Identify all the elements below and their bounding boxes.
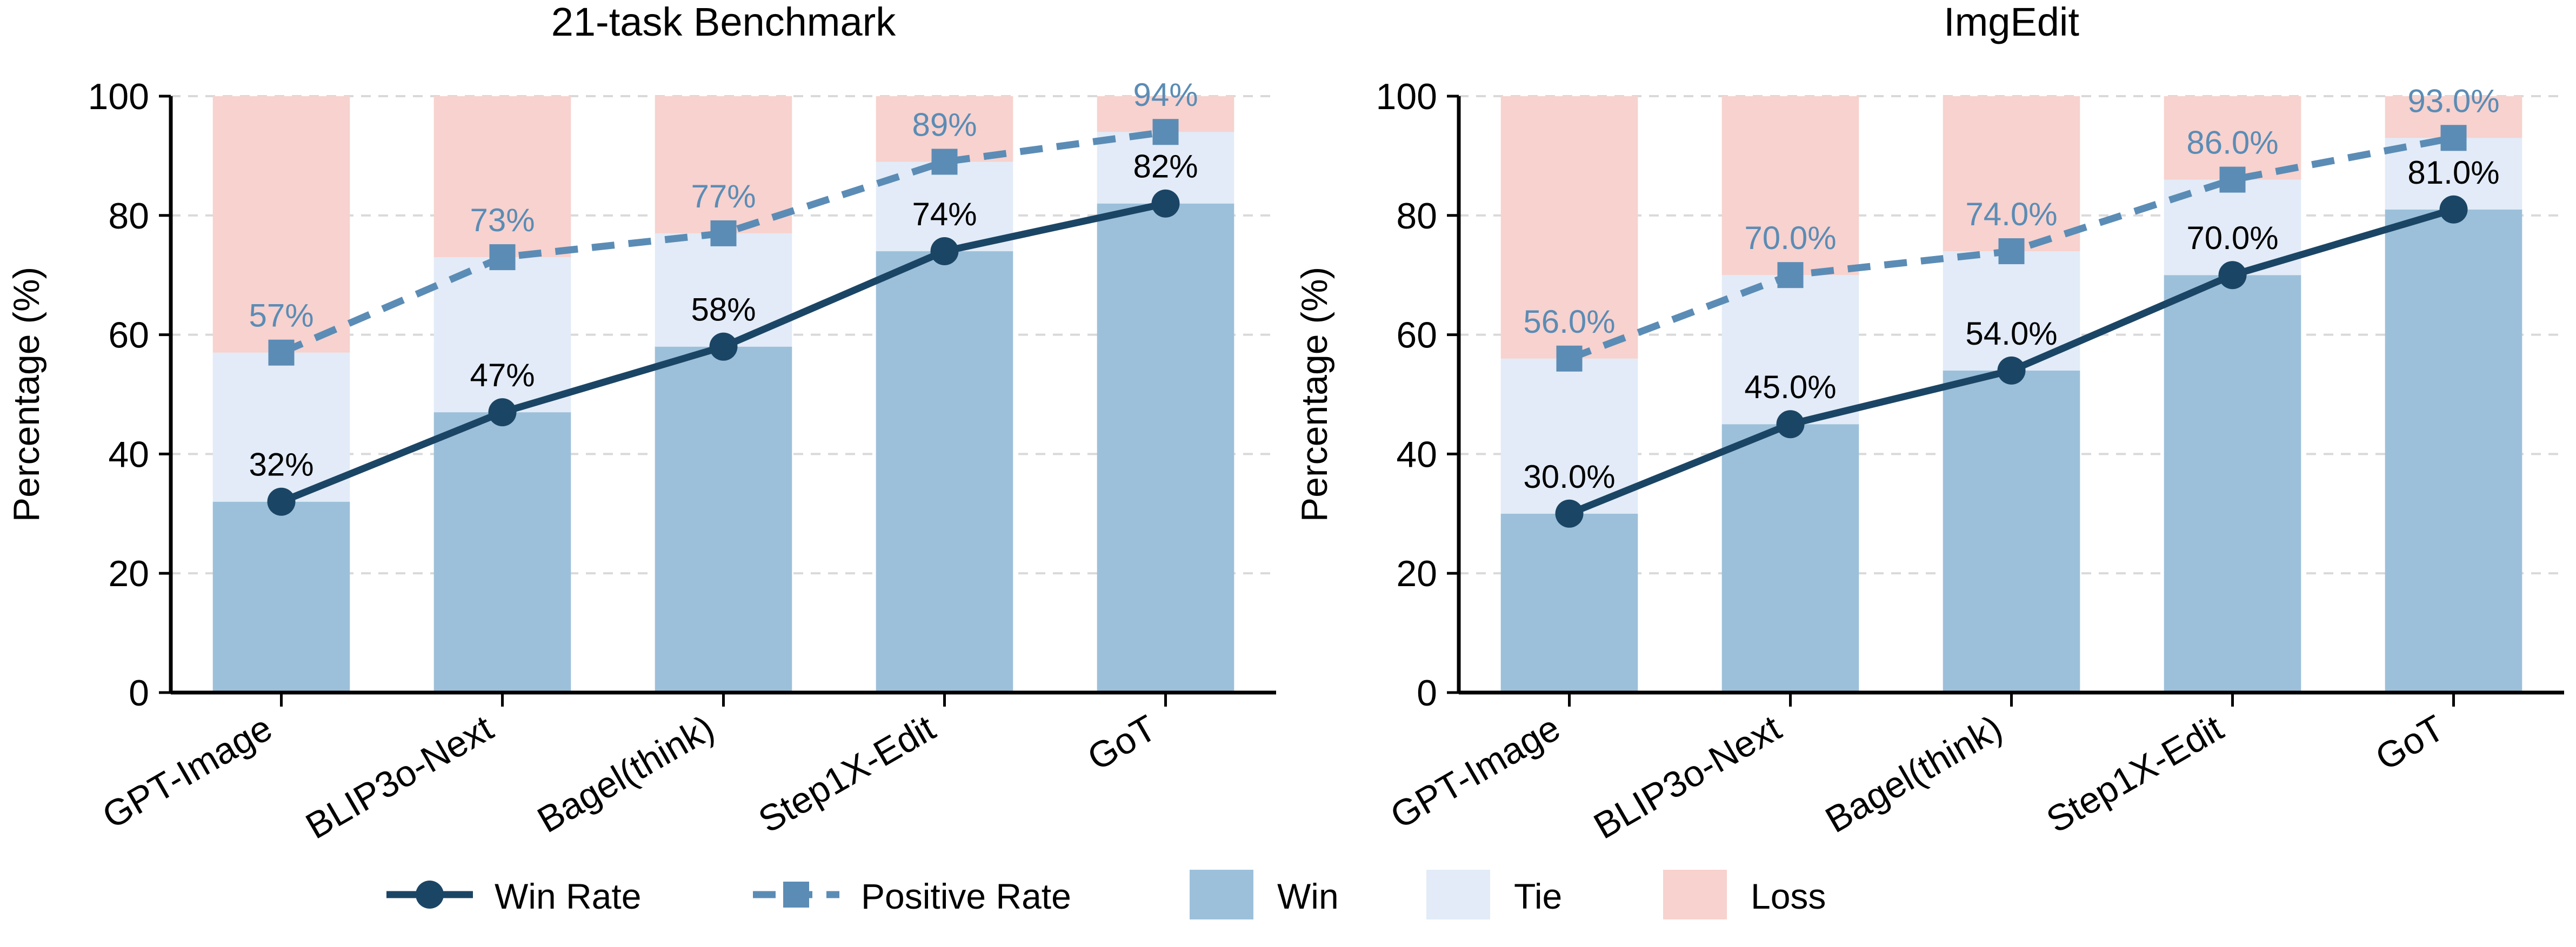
y-tick-label: 60 (1396, 315, 1437, 356)
data-label-positive-rate: 89% (912, 106, 977, 143)
data-label-win-rate: 74% (912, 196, 977, 232)
x-tick-label-step1x-edit: Step1X-Edit (752, 707, 942, 841)
marker-win-rate (931, 237, 959, 265)
data-label-win-rate: 70.0% (2186, 220, 2278, 256)
legend-item-positive-rate[interactable]: Positive Rate (753, 876, 1071, 916)
data-label-win-rate: 54.0% (1965, 315, 2057, 352)
data-label-positive-rate: 57% (249, 298, 313, 334)
y-tick-label: 100 (1376, 76, 1437, 117)
data-label-win-rate: 45.0% (1744, 369, 1836, 405)
marker-win-rate (1998, 357, 2026, 385)
legend-label: Win (1277, 876, 1339, 916)
data-label-positive-rate: 86.0% (2186, 125, 2278, 161)
figure-root: 21-task Benchmark020406080100Percentage … (0, 0, 2576, 947)
legend-item-loss[interactable]: Loss (1663, 870, 1826, 919)
marker-positive-rate (1153, 119, 1179, 145)
marker-positive-rate (1778, 262, 1804, 288)
bar-segment-win (2164, 275, 2301, 693)
bar-segment-win (434, 412, 571, 693)
x-tick-label-blip3o-next: BLIP3o-Next (299, 707, 500, 843)
chart-svg-imgedit: ImgEdit020406080100Percentage (%)GPT-Ima… (1288, 0, 2576, 843)
legend-label: Win Rate (495, 876, 641, 916)
data-label-positive-rate: 77% (691, 178, 756, 214)
data-label-win-rate: 32% (249, 447, 313, 483)
bar-segment-win (1097, 204, 1234, 693)
bar-segment-win (1943, 371, 2080, 693)
x-tick-label-gpt-image: GPT-Image (96, 707, 279, 837)
marker-positive-rate (1557, 346, 1583, 372)
legend-patch-swatch (1663, 870, 1727, 919)
marker-positive-rate (1999, 238, 2025, 264)
bar-segment-win (655, 347, 792, 693)
y-tick-label: 80 (108, 196, 149, 237)
data-label-positive-rate: 94% (1133, 77, 1198, 113)
legend-item-tie[interactable]: Tie (1426, 870, 1562, 919)
chart-title: ImgEdit (1944, 0, 2079, 44)
y-tick-label: 0 (1417, 673, 1437, 714)
y-tick-label: 100 (88, 76, 149, 117)
marker-win-rate (489, 398, 517, 426)
y-axis-label: Percentage (%) (6, 267, 47, 522)
bar-segment-win (2385, 210, 2522, 693)
marker-positive-rate (269, 340, 295, 366)
legend-item-win-rate[interactable]: Win Rate (386, 876, 641, 916)
legend-circle-marker-icon (416, 881, 444, 909)
y-tick-label: 40 (108, 434, 149, 475)
x-tick-label-blip3o-next: BLIP3o-Next (1587, 707, 1788, 843)
y-tick-label: 80 (1396, 196, 1437, 237)
data-label-positive-rate: 70.0% (1744, 220, 1836, 256)
marker-positive-rate (711, 220, 737, 246)
marker-positive-rate (932, 149, 958, 174)
x-tick-label-gpt-image: GPT-Image (1384, 707, 1567, 837)
data-label-win-rate: 58% (691, 292, 756, 328)
data-label-positive-rate: 56.0% (1523, 304, 1615, 340)
legend-label: Tie (1514, 876, 1562, 916)
marker-win-rate (710, 333, 738, 361)
legend-patch-swatch (1426, 870, 1490, 919)
data-label-win-rate: 81.0% (2407, 155, 2499, 191)
data-label-positive-rate: 93.0% (2407, 83, 2499, 119)
y-tick-label: 40 (1396, 434, 1437, 475)
x-tick-label-bagel-think: Bagel(think) (531, 707, 721, 841)
chart-svg-21task: 21-task Benchmark020406080100Percentage … (0, 0, 1288, 843)
marker-win-rate (2219, 261, 2247, 289)
marker-win-rate (268, 488, 296, 516)
legend-item-win[interactable]: Win (1190, 870, 1339, 919)
marker-win-rate (1556, 500, 1584, 528)
bar-segment-win (213, 502, 350, 693)
y-tick-label: 20 (1396, 553, 1437, 594)
data-label-positive-rate: 74.0% (1965, 196, 2057, 232)
bar-segment-win (1722, 424, 1859, 693)
chart-title: 21-task Benchmark (551, 0, 896, 44)
y-tick-label: 60 (108, 315, 149, 356)
x-tick-label-got: GoT (2368, 707, 2451, 778)
data-label-win-rate: 82% (1133, 149, 1198, 185)
x-tick-label-bagel-think: Bagel(think) (1819, 707, 2009, 841)
bar-segment-win (1501, 514, 1638, 693)
marker-win-rate (1152, 190, 1180, 218)
data-label-win-rate: 30.0% (1523, 459, 1615, 495)
marker-positive-rate (2441, 125, 2467, 151)
marker-positive-rate (490, 244, 516, 270)
legend-square-marker-icon (783, 882, 809, 908)
marker-positive-rate (2220, 167, 2246, 193)
legend-svg: Win RatePositive RateWinTieLoss (0, 843, 2576, 947)
data-label-positive-rate: 73% (470, 202, 535, 238)
x-tick-label-got: GoT (1080, 707, 1163, 778)
bar-segment-win (876, 251, 1013, 693)
chart-panel-21task: 21-task Benchmark020406080100Percentage … (0, 0, 1288, 843)
legend-label: Positive Rate (861, 876, 1071, 916)
marker-win-rate (1777, 410, 1805, 438)
legend-patch-swatch (1190, 870, 1253, 919)
data-label-win-rate: 47% (470, 357, 535, 393)
y-tick-label: 0 (129, 673, 149, 714)
y-axis-label: Percentage (%) (1294, 267, 1335, 522)
legend-label: Loss (1751, 876, 1826, 916)
x-tick-label-step1x-edit: Step1X-Edit (2040, 707, 2230, 841)
marker-win-rate (2440, 196, 2468, 224)
y-tick-label: 20 (108, 553, 149, 594)
chart-panel-imgedit: ImgEdit020406080100Percentage (%)GPT-Ima… (1288, 0, 2576, 843)
figure-legend: Win RatePositive RateWinTieLoss (0, 843, 2576, 947)
